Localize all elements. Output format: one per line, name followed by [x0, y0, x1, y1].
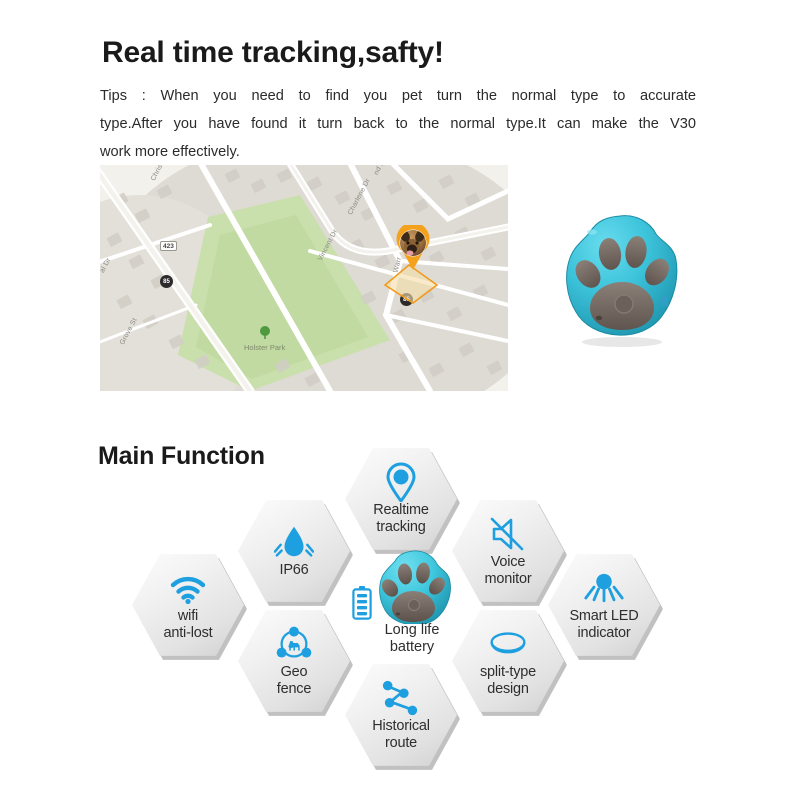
function-label: IP66 [279, 562, 308, 579]
function-label: Voice monitor [485, 554, 532, 587]
speaker-mute-icon [488, 515, 528, 553]
product-detail-page: Real time tracking,safty! Tips : When yo… [0, 0, 800, 800]
dog-in-circle-icon [274, 625, 314, 663]
location-pin-icon [381, 463, 421, 501]
function-honeycomb: wifi anti-lost [0, 0, 800, 800]
function-cell-geo-fence[interactable]: Geo fence [238, 608, 350, 714]
function-cell-ip66[interactable]: IP66 [238, 498, 350, 604]
function-cell-long-life-battery[interactable]: Long life battery [352, 548, 472, 668]
function-cell-wifi-anti-lost[interactable]: wifi anti-lost [132, 552, 244, 658]
function-label: Geo fence [277, 664, 311, 697]
function-label: Realtime tracking [373, 502, 429, 535]
function-label: Historical route [372, 718, 430, 751]
ring-ellipse-icon [488, 625, 528, 663]
function-cell-smart-led-indicator[interactable]: Smart LED indicator [548, 552, 660, 658]
led-rays-icon [584, 569, 624, 607]
function-cell-realtime-tracking[interactable]: Realtime tracking [345, 446, 457, 552]
route-nodes-icon [381, 679, 421, 717]
function-label: Long life battery [352, 622, 472, 655]
function-cell-historical-route[interactable]: Historical route [345, 662, 457, 768]
function-label: Smart LED indicator [569, 608, 638, 641]
paw-device-icon [374, 548, 452, 624]
battery-icon [352, 586, 372, 620]
water-drop-icon [274, 523, 314, 561]
function-label: wifi anti-lost [164, 608, 213, 641]
wifi-icon [168, 569, 208, 607]
function-label: split-type design [480, 664, 536, 697]
